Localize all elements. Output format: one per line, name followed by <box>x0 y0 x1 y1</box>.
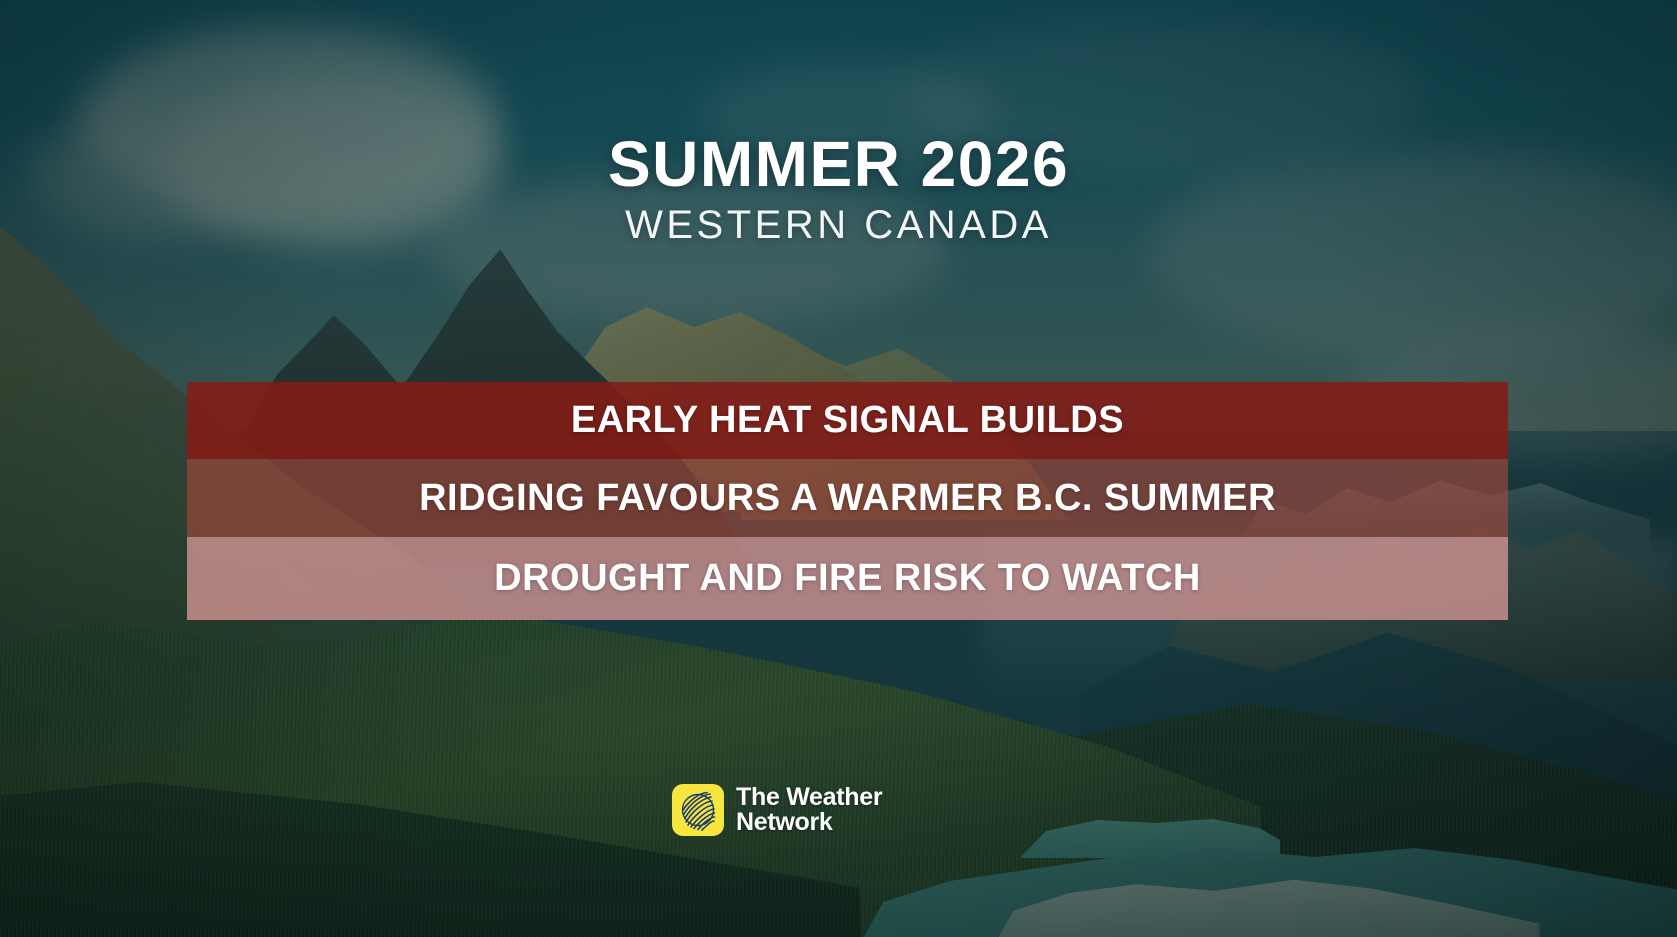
logo-wordmark: The Weather Network <box>736 785 882 835</box>
summer-outlook-graphic: SUMMER 2026 WESTERN CANADA EARLY HEAT SI… <box>0 0 1677 937</box>
headline-banner-3: DROUGHT AND FIRE RISK TO WATCH <box>187 537 1508 620</box>
headline-banner-group: EARLY HEAT SIGNAL BUILDS RIDGING FAVOURS… <box>187 382 1508 620</box>
headline-banner-2: RIDGING FAVOURS A WARMER B.C. SUMMER <box>187 459 1508 537</box>
logo-line-1: The Weather <box>736 785 882 810</box>
globe-icon <box>672 784 724 836</box>
the-weather-network-logo: The Weather Network <box>672 784 882 836</box>
logo-line-2: Network <box>736 810 882 835</box>
page-title: SUMMER 2026 <box>0 132 1677 197</box>
page-subtitle: WESTERN CANADA <box>0 203 1677 247</box>
content-layer: SUMMER 2026 WESTERN CANADA EARLY HEAT SI… <box>0 0 1677 937</box>
headline-banner-1: EARLY HEAT SIGNAL BUILDS <box>187 382 1508 459</box>
